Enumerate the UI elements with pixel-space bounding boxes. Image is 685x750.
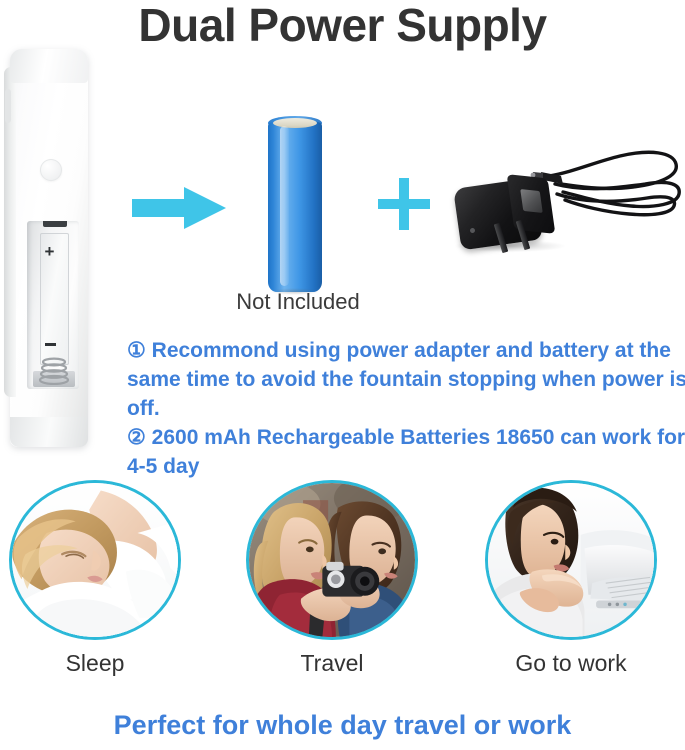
- polarity-plus-icon: +: [43, 245, 56, 258]
- battery-18650-icon: [260, 112, 334, 292]
- woman-sleeping-on-pillow-photo: [9, 480, 181, 640]
- battery-bay-slot: [43, 221, 67, 227]
- use-case-label: Go to work: [476, 650, 666, 677]
- use-case-item: Travel: [237, 478, 427, 644]
- bullet-line: ② 2600 mAh Rechargeable Batteries 18650 …: [127, 423, 679, 452]
- battery-spring-icon: [37, 357, 71, 385]
- bullet-line: off.: [127, 394, 679, 423]
- use-case-gallery: Sleep: [0, 478, 685, 648]
- bullet-line: ① Recommond using power adapter and batt…: [127, 336, 679, 365]
- use-case-item: Go to work: [476, 478, 666, 644]
- device-bottom-cap: [10, 417, 88, 447]
- battery-bay: +: [27, 221, 79, 389]
- device-power-button: [40, 159, 62, 181]
- plus-icon: [378, 178, 430, 230]
- battery-highlight: [280, 126, 289, 286]
- battery-positive-cap: [273, 118, 317, 128]
- device-side-notch: [5, 89, 11, 123]
- two-girls-with-camera-photo: [246, 480, 418, 640]
- polarity-minus-icon: [45, 343, 56, 346]
- use-case-item: Sleep: [0, 478, 190, 644]
- battery-not-included-label: Not Included: [200, 289, 396, 315]
- use-case-label: Sleep: [0, 650, 190, 677]
- footer-tagline: Perfect for whole day travel or work: [0, 710, 685, 741]
- right-arrow-icon: [132, 185, 226, 231]
- woman-at-laptop-photo: [485, 480, 657, 640]
- device-top-cap: [10, 49, 88, 83]
- bullet-line: 4-5 day: [127, 452, 679, 481]
- use-case-label: Travel: [237, 650, 427, 677]
- bullet-line: same time to avoid the fountain stopping…: [127, 365, 679, 394]
- battery-body: [268, 122, 322, 292]
- feature-bullets: ① Recommond using power adapter and batt…: [127, 336, 679, 481]
- power-adapter-icon: [445, 128, 685, 260]
- fountain-device-image: +: [2, 45, 106, 455]
- adapter-rating-label: [520, 189, 543, 213]
